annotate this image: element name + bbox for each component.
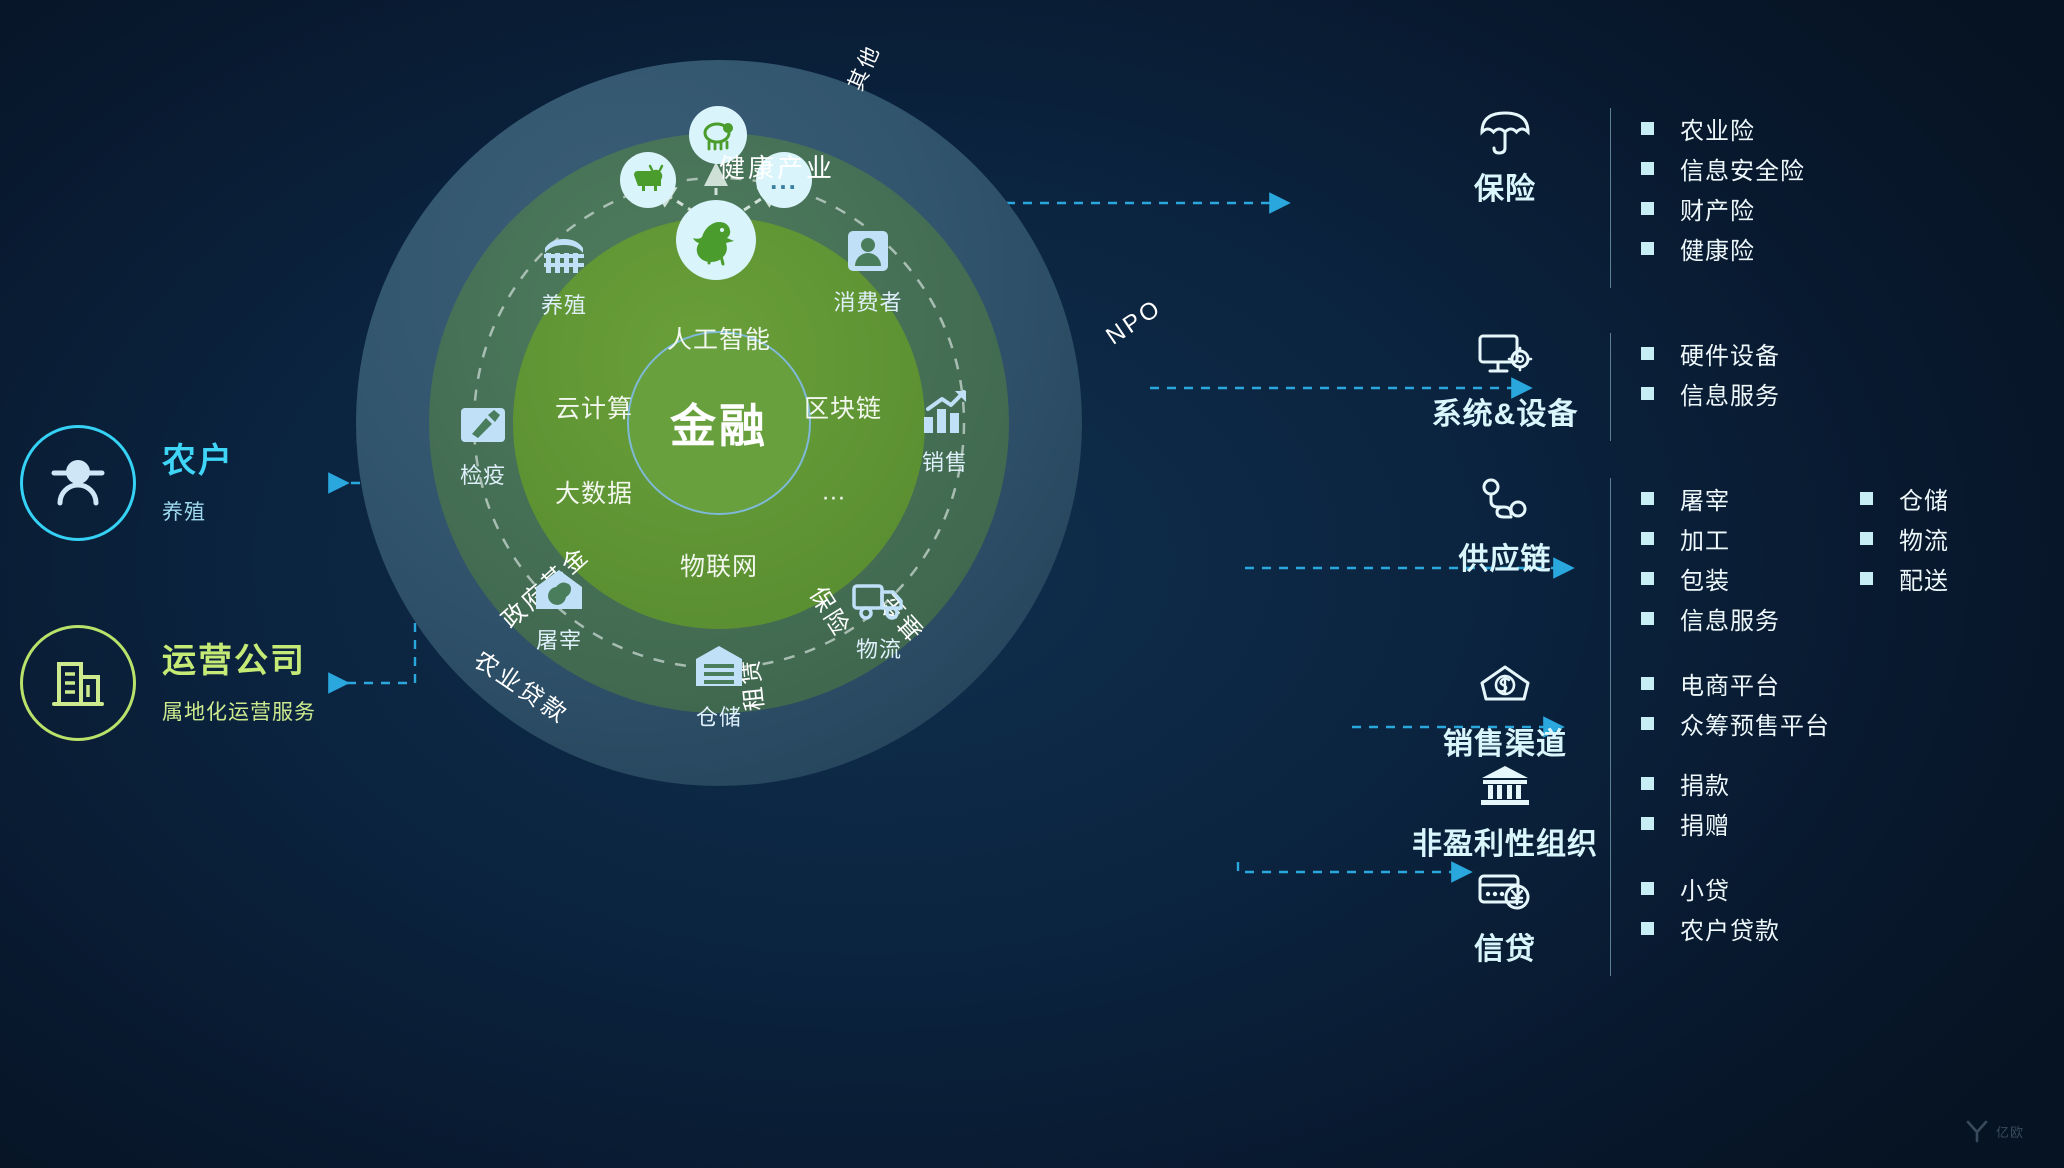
panel-sales-channel[interactable]: 销售渠道 电商平台 众筹预售平台 — [1400, 657, 2064, 771]
left-badge-title: 运营公司 — [162, 640, 316, 683]
chicken-icon — [689, 213, 743, 267]
panel-title: 信贷 — [1474, 924, 1536, 968]
panel-item[interactable]: 小贷 — [1641, 868, 1780, 908]
panel-insurance[interactable]: 保险 农业险 信息安全险 财产险 健康险 — [1400, 102, 2064, 288]
panel-system-equipment[interactable]: 系统&设备 硬件设备 信息服务 — [1400, 327, 2064, 441]
panel-item[interactable]: 信息服务 — [1641, 598, 1780, 638]
panel-item[interactable]: 电商平台 — [1641, 663, 1830, 703]
panel-item[interactable]: 硬件设备 — [1641, 333, 1780, 373]
bullet-icon — [1641, 922, 1654, 935]
bullet-icon — [1641, 347, 1654, 360]
panel-item[interactable]: 捐赠 — [1641, 803, 1730, 843]
left-badge-subtitle: 属地化运营服务 — [162, 696, 316, 726]
umbrella-icon — [1477, 102, 1533, 156]
panel-item[interactable]: 物流 — [1860, 518, 1949, 558]
bullet-icon — [1860, 492, 1873, 505]
bullet-icon — [1641, 162, 1654, 175]
panel-item[interactable]: 健康险 — [1641, 228, 1805, 268]
left-badge-farmer[interactable]: 农户 养殖 — [20, 425, 234, 541]
watermark-logo-icon — [1964, 1118, 1990, 1144]
bullet-icon — [1641, 882, 1654, 895]
panel-title: 非盈利性组织 — [1412, 819, 1598, 863]
left-badge-title: 农户 — [162, 440, 234, 483]
bank-icon — [1476, 757, 1534, 811]
watermark: 亿欧 — [1964, 1118, 2024, 1144]
panel-item[interactable]: 捐款 — [1641, 763, 1730, 803]
panel-item[interactable]: 农业险 — [1641, 108, 1805, 148]
bullet-icon — [1641, 387, 1654, 400]
ring-label-npo: NPO — [1101, 294, 1167, 351]
bullet-icon — [1641, 717, 1654, 730]
bullet-icon — [1641, 242, 1654, 255]
cow-icon — [629, 161, 667, 199]
panel-item[interactable]: 包装 — [1641, 558, 1780, 598]
panel-item[interactable]: 信息服务 — [1641, 373, 1780, 413]
bullet-icon — [1641, 677, 1654, 690]
bullet-icon — [1860, 532, 1873, 545]
left-badge-operating-company[interactable]: 运营公司 属地化运营服务 — [20, 625, 316, 741]
bullet-icon — [1860, 572, 1873, 585]
panel-item[interactable]: 众筹预售平台 — [1641, 703, 1830, 743]
monitor-gear-icon — [1476, 327, 1534, 381]
panel-item[interactable]: 加工 — [1641, 518, 1780, 558]
supply-chain-icon — [1477, 472, 1533, 526]
store-dollar-icon — [1476, 657, 1534, 711]
bullet-icon — [1641, 122, 1654, 135]
left-badge-subtitle: 养殖 — [162, 496, 234, 526]
bullet-icon — [1641, 532, 1654, 545]
bullet-icon — [1641, 777, 1654, 790]
bullet-icon — [1641, 492, 1654, 505]
panel-item[interactable]: 财产险 — [1641, 188, 1805, 228]
panel-item[interactable]: 信息安全险 — [1641, 148, 1805, 188]
credit-card-yen-icon — [1476, 862, 1534, 916]
panel-item[interactable]: 屠宰 — [1641, 478, 1780, 518]
bullet-icon — [1641, 817, 1654, 830]
bullet-icon — [1641, 572, 1654, 585]
health-industry-label: 健康产业 — [719, 148, 835, 185]
building-icon — [20, 625, 136, 741]
panel-title: 保险 — [1474, 164, 1536, 208]
panel-npo[interactable]: 非盈利性组织 捐款 捐赠 — [1400, 757, 2064, 871]
panel-supply-chain[interactable]: 供应链 屠宰 加工 包装 信息服务 仓储 物流 配送 — [1400, 472, 2064, 668]
animal-bubble-cow[interactable] — [620, 152, 676, 208]
panel-item[interactable]: 配送 — [1860, 558, 1949, 598]
panel-credit[interactable]: 信贷 小贷 农户贷款 — [1400, 862, 2064, 976]
panel-title: 系统&设备 — [1432, 389, 1579, 433]
bullet-icon — [1641, 612, 1654, 625]
animal-bubble-chicken[interactable] — [676, 200, 756, 280]
panel-title: 供应链 — [1459, 534, 1552, 578]
watermark-text: 亿欧 — [1996, 1122, 2024, 1141]
farmer-icon — [20, 425, 136, 541]
panel-item[interactable]: 农户贷款 — [1641, 908, 1780, 948]
bullet-icon — [1641, 202, 1654, 215]
infographic-canvas: 农户 养殖 运营公司 属地化运营服务 — [0, 0, 2064, 1168]
panel-item[interactable]: 仓储 — [1860, 478, 1949, 518]
